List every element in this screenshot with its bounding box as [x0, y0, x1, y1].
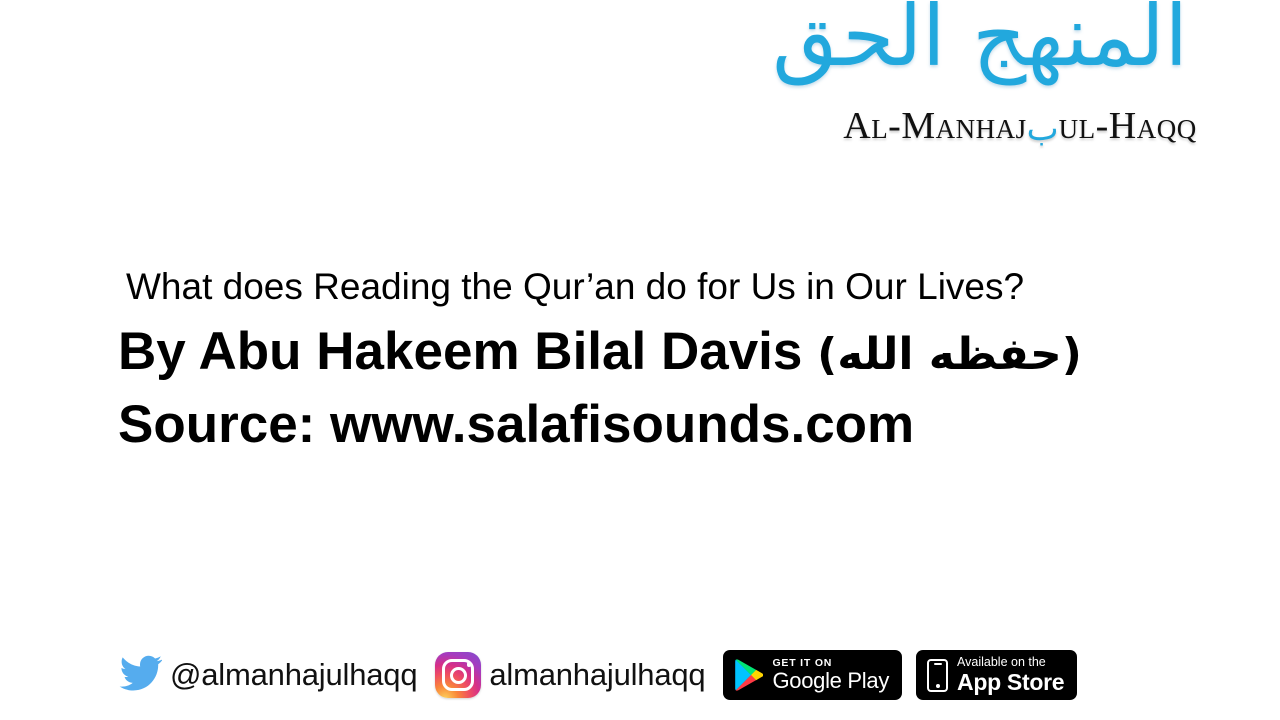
logo-arabic-script: المنهج الحق: [772, 0, 1188, 78]
apple-iphone-icon: [927, 659, 948, 692]
app-store-big-label: App Store: [957, 671, 1064, 694]
logo-wordmark-left: Al-Manhaj: [843, 105, 1026, 147]
logo-swash-glyph: ب: [1027, 109, 1059, 149]
instagram-link[interactable]: almanhajulhaqq: [435, 652, 705, 698]
brand-logo: المنهج الحق Al-Manhajبul-Haqq: [770, 8, 1270, 158]
google-play-badge[interactable]: GET IT ON Google Play: [723, 650, 902, 700]
source-line: Source: www.salafisounds.com: [118, 398, 1178, 451]
app-store-small-label: Available on the: [957, 656, 1064, 669]
speaker-honorific: (حفظه الله): [817, 329, 1082, 380]
instagram-handle: almanhajulhaqq: [489, 657, 705, 693]
speaker-name: By Abu Hakeem Bilal Davis: [118, 322, 802, 381]
google-play-icon: [734, 659, 763, 691]
twitter-link[interactable]: @almanhajulhaqq: [118, 655, 417, 695]
title-block: What does Reading the Qur’an do for Us i…: [118, 268, 1178, 451]
lecture-question-title: What does Reading the Qur’an do for Us i…: [126, 268, 1178, 305]
twitter-handle: @almanhajulhaqq: [170, 657, 417, 693]
logo-wordmark: Al-Manhajبul-Haqq: [770, 104, 1270, 148]
app-store-badge[interactable]: Available on the App Store: [916, 650, 1077, 700]
footer-bar: @almanhajulhaqq almanhajulhaqq GET IT ON…: [118, 640, 1077, 710]
logo-wordmark-right: ul-Haqq: [1059, 105, 1197, 147]
twitter-bird-icon: [118, 655, 162, 695]
instagram-icon: [435, 652, 481, 698]
google-play-big-label: Google Play: [772, 670, 889, 692]
speaker-line: By Abu Hakeem Bilal Davis (حفظه الله): [118, 325, 1178, 378]
google-play-small-label: GET IT ON: [772, 658, 889, 669]
